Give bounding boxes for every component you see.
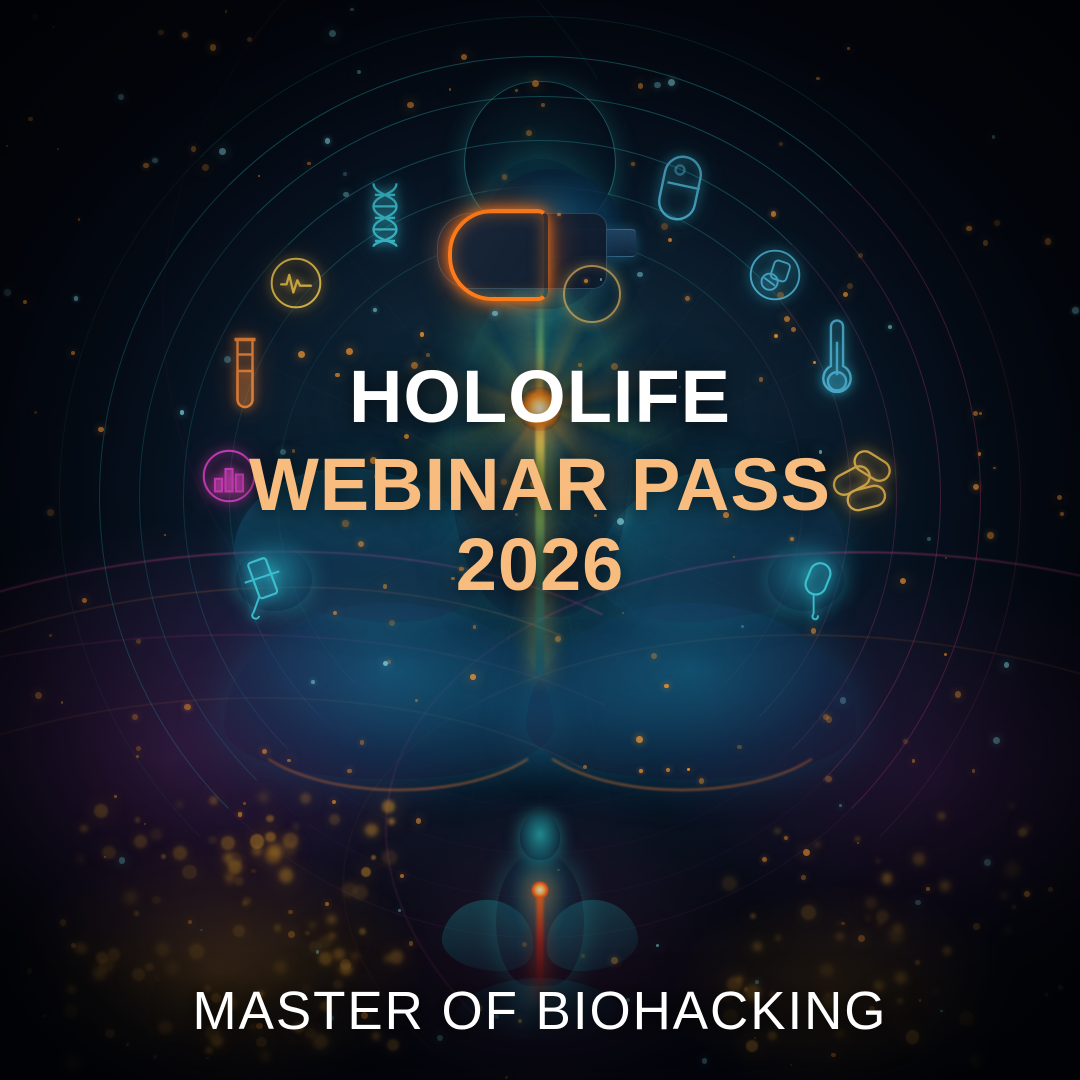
bokeh-particle [387, 1039, 399, 1051]
particle-speck [200, 929, 203, 932]
bokeh-particle [945, 948, 950, 953]
particle-speck [449, 88, 451, 90]
particle-speck [888, 325, 892, 329]
bokeh-particle [153, 1055, 157, 1059]
particle-speck [857, 842, 859, 844]
bokeh-particle [893, 923, 903, 933]
bokeh-particle [820, 964, 834, 978]
bokeh-particle [102, 846, 116, 860]
particle-speck [118, 94, 124, 100]
particle-speck [182, 32, 188, 38]
bokeh-particle [801, 905, 816, 920]
particle-speck [184, 704, 191, 711]
particle-speck [143, 163, 148, 168]
leg-rim-light-left [236, 637, 560, 791]
bokeh-particle [1012, 905, 1016, 909]
particle-speck [104, 856, 107, 859]
bokeh-particle [390, 950, 404, 964]
bokeh-particle [835, 932, 845, 942]
title-block: HOLOLIFE WEBINAR PASS 2026 [0, 360, 1080, 602]
bokeh-particle [209, 796, 218, 805]
particle-speck [983, 240, 988, 245]
particle-speck [325, 902, 329, 906]
bokeh-particle [205, 1047, 212, 1054]
vr-earcup-icon [563, 265, 621, 323]
page-subtitle: WEBINAR PASS [0, 448, 1080, 522]
bokeh-particle [151, 829, 161, 839]
bokeh-particle [145, 963, 154, 972]
bokeh-particle [152, 896, 161, 905]
particle-speck [1004, 662, 1010, 668]
bokeh-particle [94, 804, 108, 818]
particle-speck [847, 47, 850, 50]
particle-speck [136, 639, 141, 644]
bokeh-particle [319, 935, 332, 948]
bokeh-particle [384, 955, 392, 963]
particle-speck [972, 769, 976, 773]
bokeh-particle [305, 931, 309, 935]
particle-speck [206, 1057, 208, 1059]
particle-speck [638, 83, 643, 88]
particle-speck [49, 634, 52, 637]
bokeh-particle [189, 944, 204, 959]
particle-speck [409, 941, 414, 946]
particle-speck [505, 1076, 508, 1079]
bokeh-particle [260, 1051, 271, 1062]
bokeh-particle [99, 958, 114, 973]
particle-speck [57, 148, 59, 150]
bokeh-particle [156, 943, 169, 956]
bokeh-particle [93, 967, 106, 980]
bokeh-particle [327, 915, 336, 924]
particle-speck [71, 351, 75, 355]
particle-speck [35, 692, 42, 699]
bokeh-particle [775, 935, 781, 941]
bokeh-particle [750, 913, 756, 919]
particle-speck [136, 755, 139, 758]
bokeh-particle [134, 911, 140, 917]
leg-rim-light-right [520, 637, 844, 791]
particle-speck [114, 795, 117, 798]
bokeh-particle [1022, 825, 1030, 833]
bokeh-particle [182, 865, 197, 880]
bokeh-particle [309, 941, 321, 953]
particle-speck [152, 158, 157, 163]
bokeh-particle [1009, 803, 1014, 808]
particle-speck [1072, 307, 1079, 314]
bokeh-particle [108, 948, 121, 961]
bokeh-particle [319, 952, 332, 965]
particle-speck [288, 910, 292, 914]
bokeh-particle [124, 891, 138, 905]
particle-speck [316, 950, 319, 953]
particle-speck [119, 857, 126, 864]
bokeh-particle [969, 1055, 981, 1067]
particle-speck [1024, 891, 1030, 897]
bokeh-particle [1018, 828, 1027, 837]
bokeh-particle [855, 837, 860, 842]
bokeh-particle [937, 812, 945, 820]
bokeh-particle [233, 925, 245, 937]
particle-speck [841, 922, 844, 925]
vr-headset-icon [448, 209, 548, 301]
particle-speck [1045, 238, 1051, 244]
particle-speck [52, 26, 55, 29]
particle-speck [654, 82, 661, 89]
particle-speck [944, 653, 947, 656]
bokeh-particle [235, 877, 243, 885]
bokeh-particle [876, 910, 890, 924]
particle-speck [903, 739, 908, 744]
bokeh-particle [80, 825, 87, 832]
bokeh-particle [722, 876, 737, 891]
particle-speck [74, 296, 79, 301]
bokeh-particle [173, 846, 187, 860]
particle-speck [32, 14, 39, 21]
particle-speck [78, 218, 80, 220]
particle-speck [158, 30, 164, 36]
bokeh-particle [340, 963, 352, 975]
bokeh-particle [940, 881, 950, 891]
bokeh-particle [242, 901, 247, 906]
bokeh-particle [134, 835, 147, 848]
particle-speck [656, 944, 659, 947]
particle-speck [27, 968, 32, 973]
tagline-text: MASTER OF BIOHACKING [11, 984, 1069, 1038]
particle-speck [915, 960, 920, 965]
particle-speck [144, 823, 146, 825]
bokeh-particle [351, 952, 359, 960]
mini-chakra-core-icon [531, 881, 549, 899]
bokeh-particle [878, 921, 883, 926]
particle-speck [6, 145, 8, 147]
particle-speck [60, 919, 67, 926]
particle-speck [210, 44, 217, 51]
bokeh-particle [329, 933, 335, 939]
bokeh-particle [865, 897, 877, 909]
bokeh-particle [342, 883, 356, 897]
particle-speck [973, 923, 980, 930]
particle-speck [329, 30, 336, 37]
bokeh-particle [75, 943, 87, 955]
bokeh-particle [882, 873, 893, 884]
particle-speck [407, 102, 413, 108]
bokeh-particle [340, 959, 351, 970]
page-title: HOLOLIFE [0, 360, 1080, 434]
particle-speck [1048, 887, 1053, 892]
bokeh-particle [942, 946, 952, 956]
particle-speck [926, 887, 929, 890]
bokeh-particle [913, 853, 925, 865]
particle-speck [247, 37, 252, 42]
bokeh-particle [132, 968, 145, 981]
bokeh-particle [353, 885, 368, 900]
particle-speck [357, 70, 361, 74]
bokeh-particle [96, 952, 108, 964]
bokeh-particle [1001, 892, 1008, 899]
particle-speck [71, 943, 76, 948]
bokeh-particle [77, 855, 85, 863]
bokeh-particle [135, 817, 140, 822]
particle-speck [191, 146, 197, 152]
bokeh-particle [1005, 862, 1021, 878]
particle-speck [668, 79, 675, 86]
particle-speck [398, 909, 401, 912]
bokeh-particle [746, 1040, 758, 1052]
particle-speck [993, 737, 1000, 744]
bokeh-particle [359, 928, 366, 935]
bokeh-particle [1005, 927, 1011, 933]
bokeh-particle [753, 942, 762, 951]
bokeh-particle [208, 836, 216, 844]
bokeh-particle [161, 854, 166, 859]
particle-speck [288, 931, 295, 938]
bokeh-particle [876, 859, 880, 863]
particle-speck [61, 701, 63, 703]
particle-speck [831, 1053, 836, 1058]
particle-speck [219, 148, 226, 155]
particle-speck [702, 1058, 707, 1063]
particle-speck [816, 77, 819, 80]
particle-speck [858, 935, 865, 942]
particle-speck [136, 746, 141, 751]
particle-speck [984, 859, 991, 866]
mini-head [520, 814, 560, 860]
particle-speck [790, 1064, 792, 1066]
particle-speck [461, 54, 467, 60]
bokeh-particle [176, 801, 183, 808]
bokeh-particle [895, 972, 907, 984]
particle-speck [202, 164, 209, 171]
particle-speck [350, 8, 354, 12]
page-title-year: 2026 [0, 528, 1080, 602]
bokeh-particle [66, 1056, 80, 1070]
particle-speck [132, 714, 138, 720]
particle-speck [188, 920, 192, 924]
bokeh-particle [836, 921, 840, 925]
particle-speck [28, 117, 33, 122]
bokeh-particle [889, 928, 904, 943]
particle-speck [992, 135, 996, 139]
particle-speck [994, 220, 1000, 226]
bokeh-particle [865, 915, 871, 921]
poster-canvas: HOLOLIFE WEBINAR PASS 2026 MASTER OF BIO… [0, 0, 1080, 1080]
bokeh-particle [243, 897, 251, 905]
particle-speck [126, 1043, 129, 1046]
particle-speck [4, 289, 11, 296]
bokeh-particle [155, 976, 160, 981]
particle-speck [23, 300, 27, 304]
particle-speck [966, 226, 971, 231]
particle-speck [912, 759, 915, 762]
bokeh-particle [310, 923, 314, 927]
particle-speck [225, 10, 228, 13]
particle-speck [858, 253, 863, 258]
bokeh-particle [164, 961, 179, 976]
particle-speck [915, 900, 921, 906]
bokeh-particle [274, 961, 287, 974]
bokeh-particle [333, 948, 345, 960]
particle-speck [955, 691, 961, 697]
bokeh-particle [274, 924, 282, 932]
